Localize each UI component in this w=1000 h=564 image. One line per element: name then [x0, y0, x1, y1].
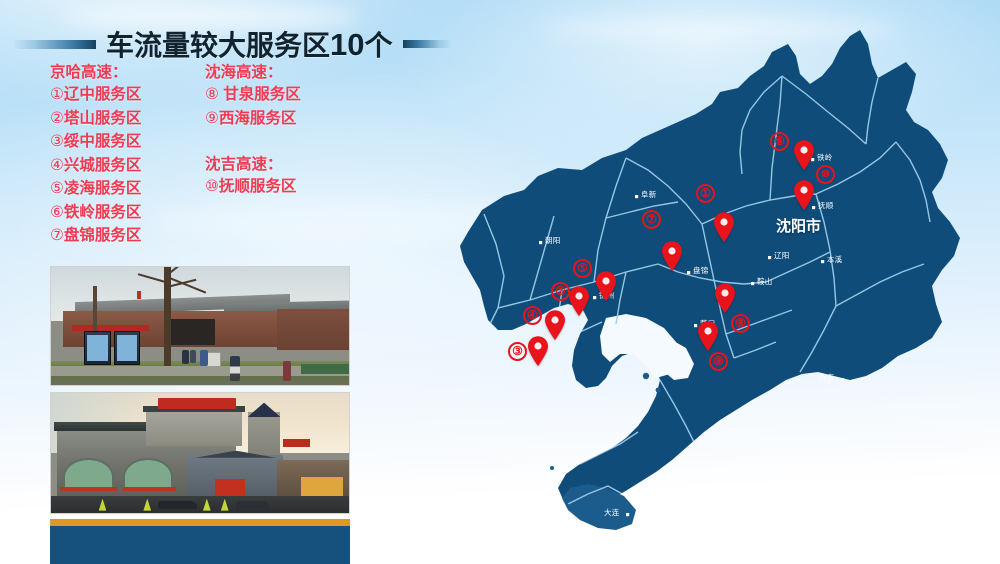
photo-arch-window-2 — [123, 458, 174, 489]
photo-person — [200, 350, 208, 367]
city-label-dalian: 大连 — [604, 508, 619, 517]
location-pin-icon — [714, 283, 736, 313]
city-label-tieling: 铁岭 — [817, 153, 832, 162]
photo-arch-window-1 — [63, 458, 114, 489]
list-item-number: ① — [50, 86, 64, 103]
map-island — [550, 466, 554, 470]
map-marker-badge-10[interactable]: ⑩ — [816, 165, 835, 184]
list-item-label: 辽中服务区 — [64, 86, 142, 103]
list-item-label: 抚顺服务区 — [219, 178, 297, 195]
photo-person — [230, 356, 240, 382]
list-item-label: 凌海服务区 — [64, 180, 142, 197]
list-column-left: 京哈高速： ①辽中服务区 ②塔山服务区 ③绥中服务区 ④兴城服务区 ⑤凌海服务区… — [50, 62, 200, 248]
list-item-number: ⑧ — [205, 86, 219, 103]
location-pin-icon — [595, 271, 617, 301]
city-label-fuxin: 阜新 — [641, 190, 656, 199]
capital-label-shenyang: 沈阳市 — [776, 215, 821, 236]
photo-flag-1 — [137, 291, 141, 299]
photo-trash-bin — [206, 352, 221, 367]
list-item[interactable]: ①辽中服务区 — [50, 83, 200, 107]
map-marker-badge-3[interactable]: ③ — [508, 342, 527, 361]
list-item-number: ② — [50, 110, 64, 127]
list-item-number: ⑩ — [205, 178, 219, 195]
photo-car-1 — [158, 501, 197, 509]
map-marker-badge-5[interactable]: ⑤ — [573, 259, 592, 278]
photo-billboard-image — [87, 335, 108, 361]
service-area-photo-dusk — [50, 392, 350, 514]
photo-building-wall-right — [277, 309, 349, 349]
city-label-liaoyang: 辽阳 — [774, 251, 789, 260]
list-item[interactable]: ⑨西海服务区 — [205, 107, 380, 131]
photo-center-block — [146, 410, 241, 446]
photo-dusk-content — [51, 393, 349, 513]
list-item[interactable]: ②塔山服务区 — [50, 107, 200, 131]
group-heading-shenji: 沈吉高速： — [205, 154, 380, 175]
city-dot — [539, 241, 542, 244]
list-item-number: ⑨ — [205, 110, 219, 127]
list-item-number: ⑦ — [50, 227, 64, 244]
city-dot — [626, 513, 629, 516]
page-title: 车流量较大服务区10个 — [106, 29, 393, 60]
map-marker-badge-2[interactable]: ② — [551, 282, 570, 301]
city-dot — [768, 256, 771, 259]
list-item-label: 盘锦服务区 — [64, 227, 142, 244]
list-item-label: 西海服务区 — [219, 110, 297, 127]
list-group-spacer — [205, 130, 380, 154]
bottom-accent-bar — [50, 519, 350, 564]
photo-parking-ground — [51, 496, 349, 513]
list-item[interactable]: ④兴城服务区 — [50, 154, 200, 178]
list-item-label: 兴城服务区 — [64, 157, 142, 174]
list-item-label: 甘泉服务区 — [219, 86, 301, 103]
list-item-number: ③ — [50, 133, 64, 150]
list-item-label: 铁岭服务区 — [64, 204, 142, 221]
location-pin-icon — [793, 140, 815, 170]
map-marker-badge-6[interactable]: ⑥ — [770, 132, 789, 151]
photo-person — [190, 350, 196, 363]
map-svg — [420, 18, 1000, 548]
page-title-row: 车流量较大服务区10个 — [14, 22, 434, 66]
photo-billboard-2 — [114, 331, 141, 365]
list-item[interactable]: ③绥中服务区 — [50, 130, 200, 154]
city-dot — [821, 260, 824, 263]
map-marker-badge-1[interactable]: ① — [696, 184, 715, 203]
photo-bare-tree-center — [164, 267, 171, 366]
photo-shop-window — [301, 477, 343, 496]
list-item[interactable]: ⑤凌海服务区 — [50, 177, 200, 201]
photo-person — [182, 350, 189, 364]
service-area-photo-daytime — [50, 266, 350, 386]
liaoning-province-map: 铁岭 抚顺 本溪 辽阳 鞍山 营口 盘锦 锦州 朝阳 阜新 丹东 大连 沈阳市 … — [420, 18, 1000, 548]
list-item-number: ④ — [50, 157, 64, 174]
photo-person — [283, 361, 290, 381]
photo-red-rooftop-sign — [158, 398, 235, 409]
group-heading-shenhai: 沈海高速： — [205, 62, 380, 83]
photo-daytime-content — [51, 267, 349, 385]
location-pin-icon — [697, 321, 719, 351]
city-label-fushun: 抚顺 — [818, 201, 833, 210]
list-item-label: 绥中服务区 — [64, 133, 142, 150]
city-label-panjin: 盘锦 — [693, 266, 708, 275]
city-dot — [687, 271, 690, 274]
city-dot — [841, 378, 844, 381]
city-label-dandong: 丹东 — [819, 373, 834, 382]
location-pin-icon — [527, 336, 549, 366]
list-item-number: ⑥ — [50, 204, 64, 221]
location-pin-icon — [713, 212, 735, 242]
photo-side-sign — [283, 439, 310, 447]
page-title-count: 10 — [330, 27, 364, 62]
list-item[interactable]: ⑩抚顺服务区 — [205, 175, 380, 199]
page-title-unit: 个 — [365, 30, 393, 61]
map-marker-badge-9[interactable]: ⑨ — [709, 352, 728, 371]
map-marker-badge-8[interactable]: ⑧ — [731, 314, 750, 333]
location-pin-icon — [661, 241, 683, 271]
bottom-accent-bar-stripe — [50, 519, 350, 526]
title-rule-left-decoration — [14, 40, 96, 49]
list-column-right: 沈海高速： ⑧ 甘泉服务区 ⑨西海服务区 沈吉高速： ⑩抚顺服务区 — [205, 62, 380, 199]
photo-building-entry — [170, 319, 215, 345]
location-pin-icon — [544, 310, 566, 340]
group-heading-jingha: 京哈高速： — [50, 62, 200, 83]
city-label-chaoyang: 朝阳 — [545, 236, 560, 245]
list-item-number: ⑤ — [50, 180, 64, 197]
city-dot — [635, 195, 638, 198]
list-item[interactable]: ⑧ 甘泉服务区 — [205, 83, 380, 107]
infographic-canvas: 车流量较大服务区10个 京哈高速： ①辽中服务区 ②塔山服务区 ③绥中服务区 ④… — [0, 0, 1000, 564]
city-label-benxi: 本溪 — [827, 255, 842, 264]
photo-billboard-image — [117, 335, 138, 361]
map-marker-badge-4[interactable]: ④ — [523, 306, 542, 325]
liaoning-outline — [460, 30, 960, 508]
map-island — [643, 373, 649, 379]
photo-bench — [301, 364, 349, 375]
photo-storefront-band-2 — [123, 487, 177, 492]
location-pin-icon — [793, 180, 815, 210]
list-item-label: 塔山服务区 — [64, 110, 142, 127]
city-dot — [751, 282, 754, 285]
list-item[interactable]: ⑥铁岭服务区 — [50, 201, 200, 225]
city-label-anshan: 鞍山 — [757, 277, 772, 286]
location-pin-icon — [568, 286, 590, 316]
photo-storefront-band-1 — [60, 487, 117, 492]
map-island — [656, 388, 661, 393]
map-marker-badge-7[interactable]: ⑦ — [642, 210, 661, 229]
list-item[interactable]: ⑦盘锦服务区 — [50, 224, 200, 248]
photo-billboard-1 — [84, 331, 111, 365]
photo-car-2 — [236, 501, 269, 509]
page-title-main: 车流量较大服务区 — [106, 30, 330, 61]
